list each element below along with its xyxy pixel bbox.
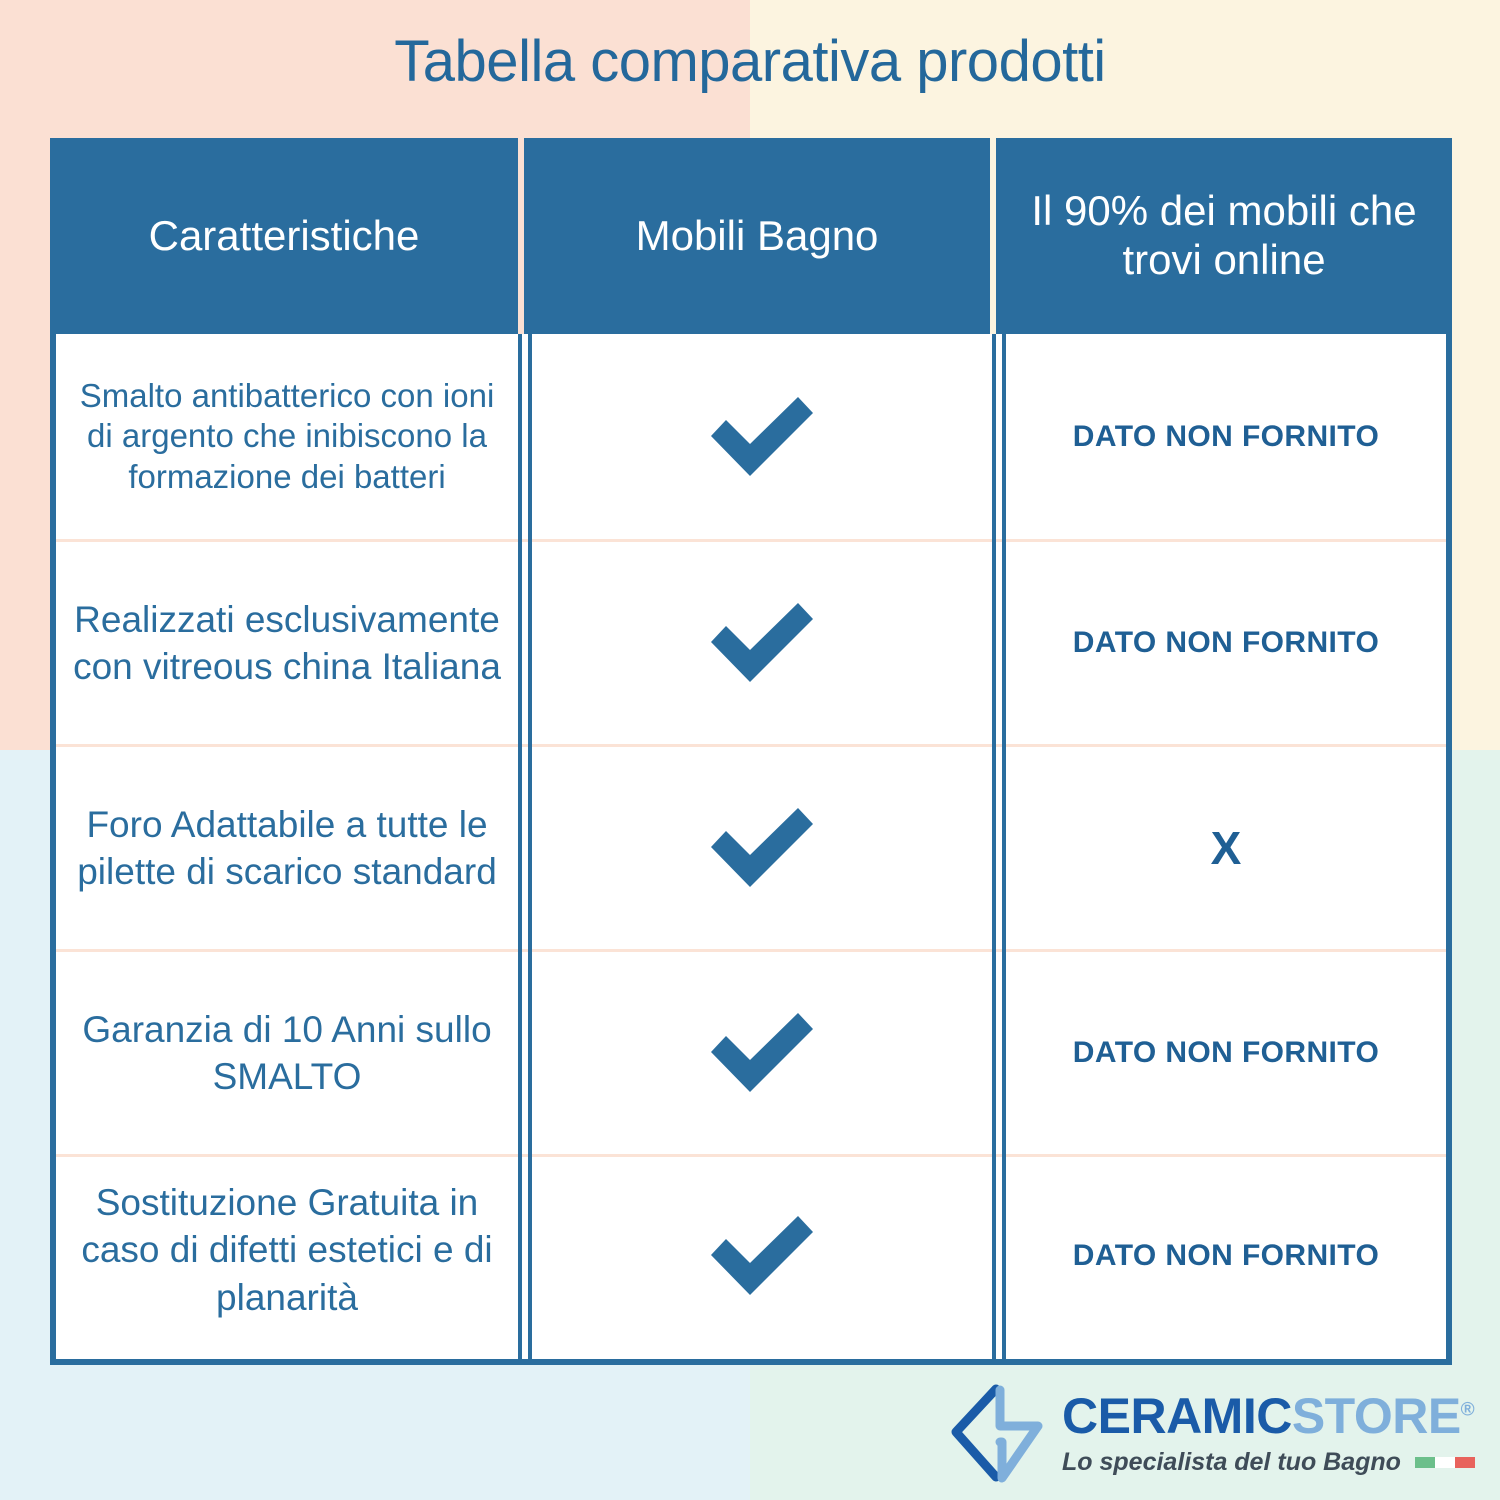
table-row: Garanzia di 10 Anni sullo SMALTO DATO NO…: [56, 952, 1446, 1157]
mobili-bagno-cell: [532, 952, 992, 1154]
checkmark-icon: [706, 600, 818, 686]
comparison-table: Caratteristiche Mobili Bagno Il 90% dei …: [50, 138, 1452, 1353]
feature-label: Realizzati esclusivamente con vitreous c…: [56, 542, 518, 744]
mobili-bagno-cell: [532, 334, 992, 539]
online-status-badge: X: [1006, 747, 1446, 949]
table-header-mobili-bagno: Mobili Bagno: [524, 138, 990, 334]
online-status-badge: DATO NON FORNITO: [1006, 952, 1446, 1154]
column-divider: [518, 952, 532, 1154]
brand-logo: CERAMICSTORE® Lo specialista del tuo Bag…: [948, 1378, 1468, 1490]
table-row: Smalto antibatterico con ioni di argento…: [56, 334, 1446, 542]
table-header-caratteristiche: Caratteristiche: [50, 138, 518, 334]
checkmark-icon: [706, 394, 818, 480]
online-status-badge: DATO NON FORNITO: [1006, 542, 1446, 744]
logo-wordmark: CERAMICSTORE®: [1062, 1391, 1475, 1441]
logo-word-ceramic: CERAMIC: [1062, 1388, 1292, 1444]
feature-label: Smalto antibatterico con ioni di argento…: [56, 334, 518, 539]
column-divider: [992, 952, 1006, 1154]
column-divider: [518, 1157, 532, 1355]
table-header-online: Il 90% dei mobili che trovi online: [996, 138, 1452, 334]
checkmark-icon: [706, 805, 818, 891]
column-divider: [992, 747, 1006, 949]
checkmark-icon: [706, 1010, 818, 1096]
table-row: Sostituzione Gratuita in caso di difetti…: [56, 1157, 1446, 1355]
logo-word-store: STORE: [1292, 1388, 1461, 1444]
table-header-row: Caratteristiche Mobili Bagno Il 90% dei …: [50, 138, 1452, 334]
column-divider: [992, 542, 1006, 744]
checkmark-icon: [706, 1213, 818, 1299]
mobili-bagno-cell: [532, 747, 992, 949]
column-divider: [518, 747, 532, 949]
column-divider: [518, 334, 532, 539]
column-divider: [518, 542, 532, 744]
mobili-bagno-cell: [532, 1157, 992, 1355]
table-body: Smalto antibatterico con ioni di argento…: [50, 334, 1452, 1365]
registered-trademark-icon: ®: [1461, 1399, 1475, 1420]
table-row: Foro Adattabile a tutte le pilette di sc…: [56, 747, 1446, 952]
feature-label: Foro Adattabile a tutte le pilette di sc…: [56, 747, 518, 949]
column-divider: [992, 1157, 1006, 1355]
table-row: Realizzati esclusivamente con vitreous c…: [56, 542, 1446, 747]
feature-label: Sostituzione Gratuita in caso di difetti…: [56, 1157, 518, 1355]
italian-flag-icon: [1415, 1457, 1475, 1468]
column-divider: [992, 334, 1006, 539]
page-title: Tabella comparativa prodotti: [0, 28, 1500, 95]
feature-label: Garanzia di 10 Anni sullo SMALTO: [56, 952, 518, 1154]
logo-tagline-row: Lo specialista del tuo Bagno: [1062, 1448, 1475, 1477]
logo-text-block: CERAMICSTORE® Lo specialista del tuo Bag…: [1062, 1391, 1475, 1477]
logo-tagline: Lo specialista del tuo Bagno: [1062, 1448, 1401, 1477]
mobili-bagno-cell: [532, 542, 992, 744]
ceramicstore-chevron-icon: [948, 1384, 1044, 1484]
online-status-badge: DATO NON FORNITO: [1006, 1157, 1446, 1355]
online-status-badge: DATO NON FORNITO: [1006, 334, 1446, 539]
